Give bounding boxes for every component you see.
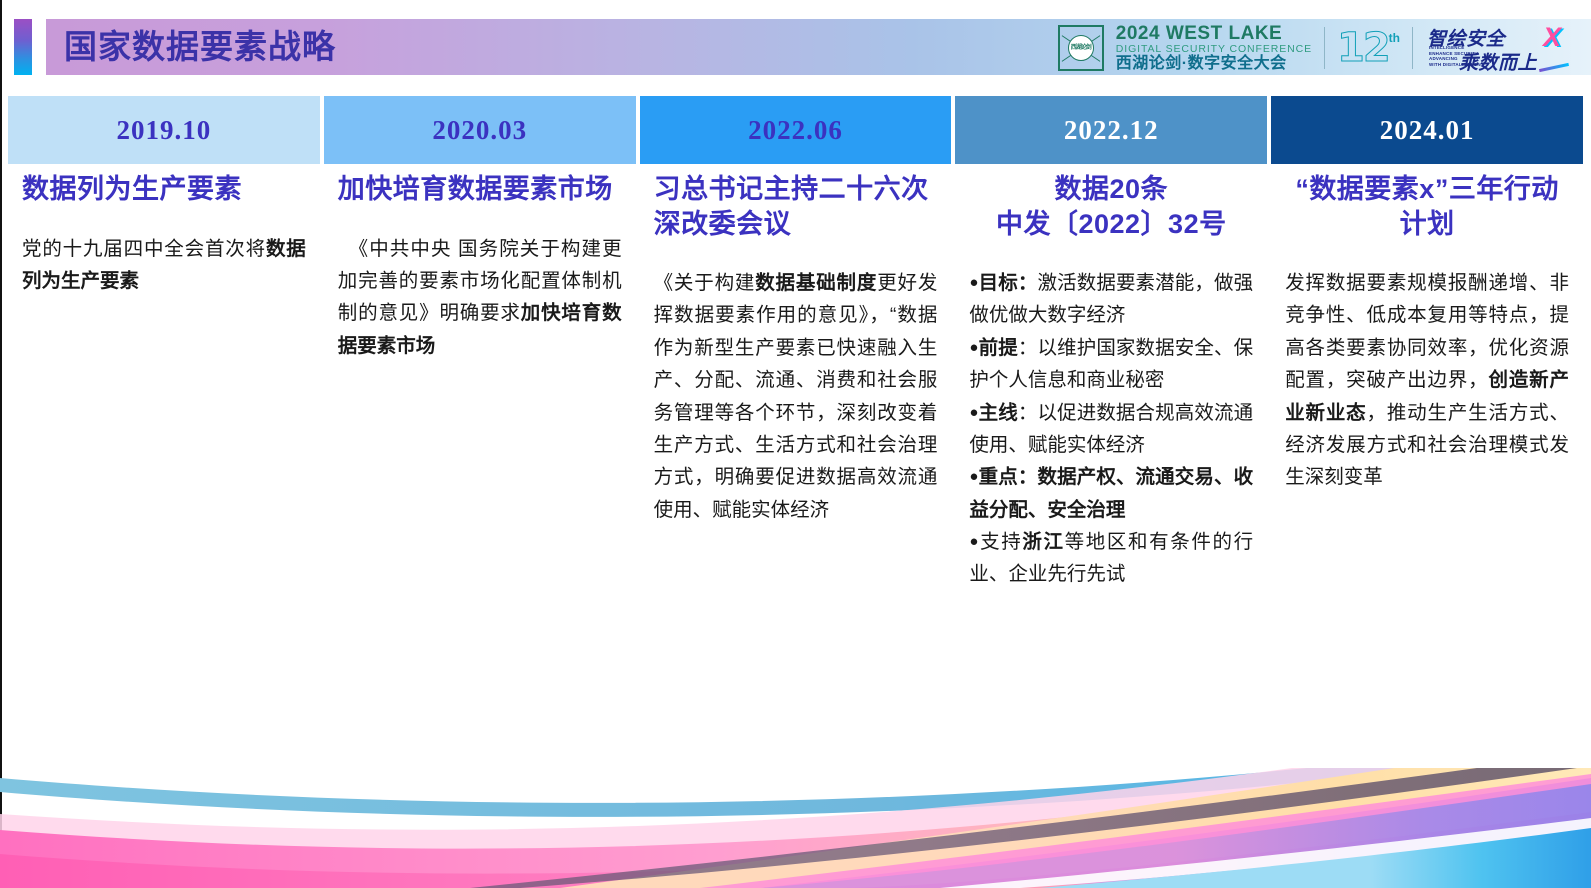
column-heading: 数据20条中发〔2022〕32号	[969, 172, 1253, 241]
timeline-date-header: 2019.102020.032022.062022.122024.01	[8, 96, 1583, 164]
edition-suffix: th	[1389, 31, 1400, 45]
title-accent-bar	[14, 19, 32, 75]
list-item: ●支持浙江等地区和有条件的行业、企业先行先试	[969, 526, 1253, 591]
conference-theme-mark: 智绘安全 X INTELLIGENCEENHANCE SECURITYADVAN…	[1425, 23, 1575, 73]
page-title: 国家数据要素战略	[64, 19, 336, 75]
conference-logo-block: 西湖论剑 2024 WEST LAKE DIGITAL SECURITY CON…	[1058, 20, 1575, 76]
timeline-date-cell: 2022.12	[955, 96, 1267, 164]
edition-badge: 12 th	[1337, 29, 1400, 67]
column-heading: 加快培育数据要素市场	[338, 172, 622, 207]
column-body: 《中共中央 国务院关于构建更加完善的要素市场化配置体制机制的意见》明确要求加快培…	[338, 233, 622, 362]
timeline-column: “数据要素x”三年行动计划发挥数据要素规模报酬递增、非竞争性、低成本复用等特点，…	[1271, 172, 1583, 732]
seal-inner-text: 西湖论剑	[1068, 35, 1094, 61]
west-lake-seal-icon: 西湖论剑	[1058, 25, 1104, 71]
column-heading: “数据要素x”三年行动计划	[1285, 172, 1569, 241]
bullet-dot-icon: ●	[969, 339, 978, 356]
list-item: ●前提：以维护国家数据安全、保护个人信息和商业秘密	[969, 332, 1253, 397]
timeline-date-cell: 2019.10	[8, 96, 320, 164]
bullet-dot-icon: ●	[969, 274, 978, 291]
bullet-list: ●目标：激活数据要素潜能，做强做优做大数字经济●前提：以维护国家数据安全、保护个…	[969, 267, 1253, 591]
logo-divider-1	[1324, 27, 1325, 69]
theme-arrow-icon	[1539, 63, 1569, 72]
edition-number: 12	[1337, 29, 1389, 67]
conference-name-en-line2: DIGITAL SECURITY CONFERENCE	[1116, 44, 1312, 55]
list-item: ●重点：数据产权、流通交易、收益分配、安全治理	[969, 461, 1253, 526]
timeline-column: 习总书记主持二十六次深改委会议《关于构建数据基础制度更好发挥数据要素作用的意见》…	[640, 172, 952, 732]
left-edge-line	[0, 0, 2, 888]
column-heading: 数据列为生产要素	[22, 172, 306, 207]
theme-line-2: 乘数而上	[1459, 48, 1537, 75]
column-body: 党的十九届四中全会首次将数据列为生产要素	[22, 233, 306, 298]
timeline-date-cell: 2024.01	[1271, 96, 1583, 164]
column-body: ●目标：激活数据要素潜能，做强做优做大数字经济●前提：以维护国家数据安全、保护个…	[969, 267, 1253, 591]
list-item: ●主线：以促进数据合规高效流通使用、赋能实体经济	[969, 397, 1253, 462]
column-heading: 习总书记主持二十六次深改委会议	[654, 172, 938, 241]
list-item: ●目标：激活数据要素潜能，做强做优做大数字经济	[969, 267, 1253, 332]
logo-divider-2	[1412, 27, 1413, 69]
timeline-column: 加快培育数据要素市场 《中共中央 国务院关于构建更加完善的要素市场化配置体制机制…	[324, 172, 636, 732]
theme-x-icon: X	[1543, 22, 1561, 53]
conference-wordmark: 2024 WEST LAKE DIGITAL SECURITY CONFEREN…	[1116, 24, 1312, 73]
timeline-column: 数据20条中发〔2022〕32号●目标：激活数据要素潜能，做强做优做大数字经济●…	[955, 172, 1267, 732]
timeline-column: 数据列为生产要素党的十九届四中全会首次将数据列为生产要素	[8, 172, 320, 732]
timeline-date-cell: 2020.03	[324, 96, 636, 164]
bullet-dot-icon: ●	[969, 404, 978, 421]
bullet-dot-icon: ●	[969, 468, 978, 485]
conference-name-en-line1: 2024 WEST LAKE	[1116, 24, 1312, 43]
timeline-columns: 数据列为生产要素党的十九届四中全会首次将数据列为生产要素加快培育数据要素市场 《…	[8, 172, 1583, 732]
timeline-date-cell: 2022.06	[640, 96, 952, 164]
bottom-decorative-waves	[0, 768, 1591, 888]
column-body: 《关于构建数据基础制度更好发挥数据要素作用的意见》，“数据作为新型生产要素已快速…	[654, 267, 938, 526]
column-body: 发挥数据要素规模报酬递增、非竞争性、低成本复用等特点，提高各类要素协同效率，优化…	[1285, 267, 1569, 494]
conference-name-cn: 西湖论剑·数字安全大会	[1116, 56, 1312, 72]
bullet-dot-icon: ●	[969, 533, 980, 550]
